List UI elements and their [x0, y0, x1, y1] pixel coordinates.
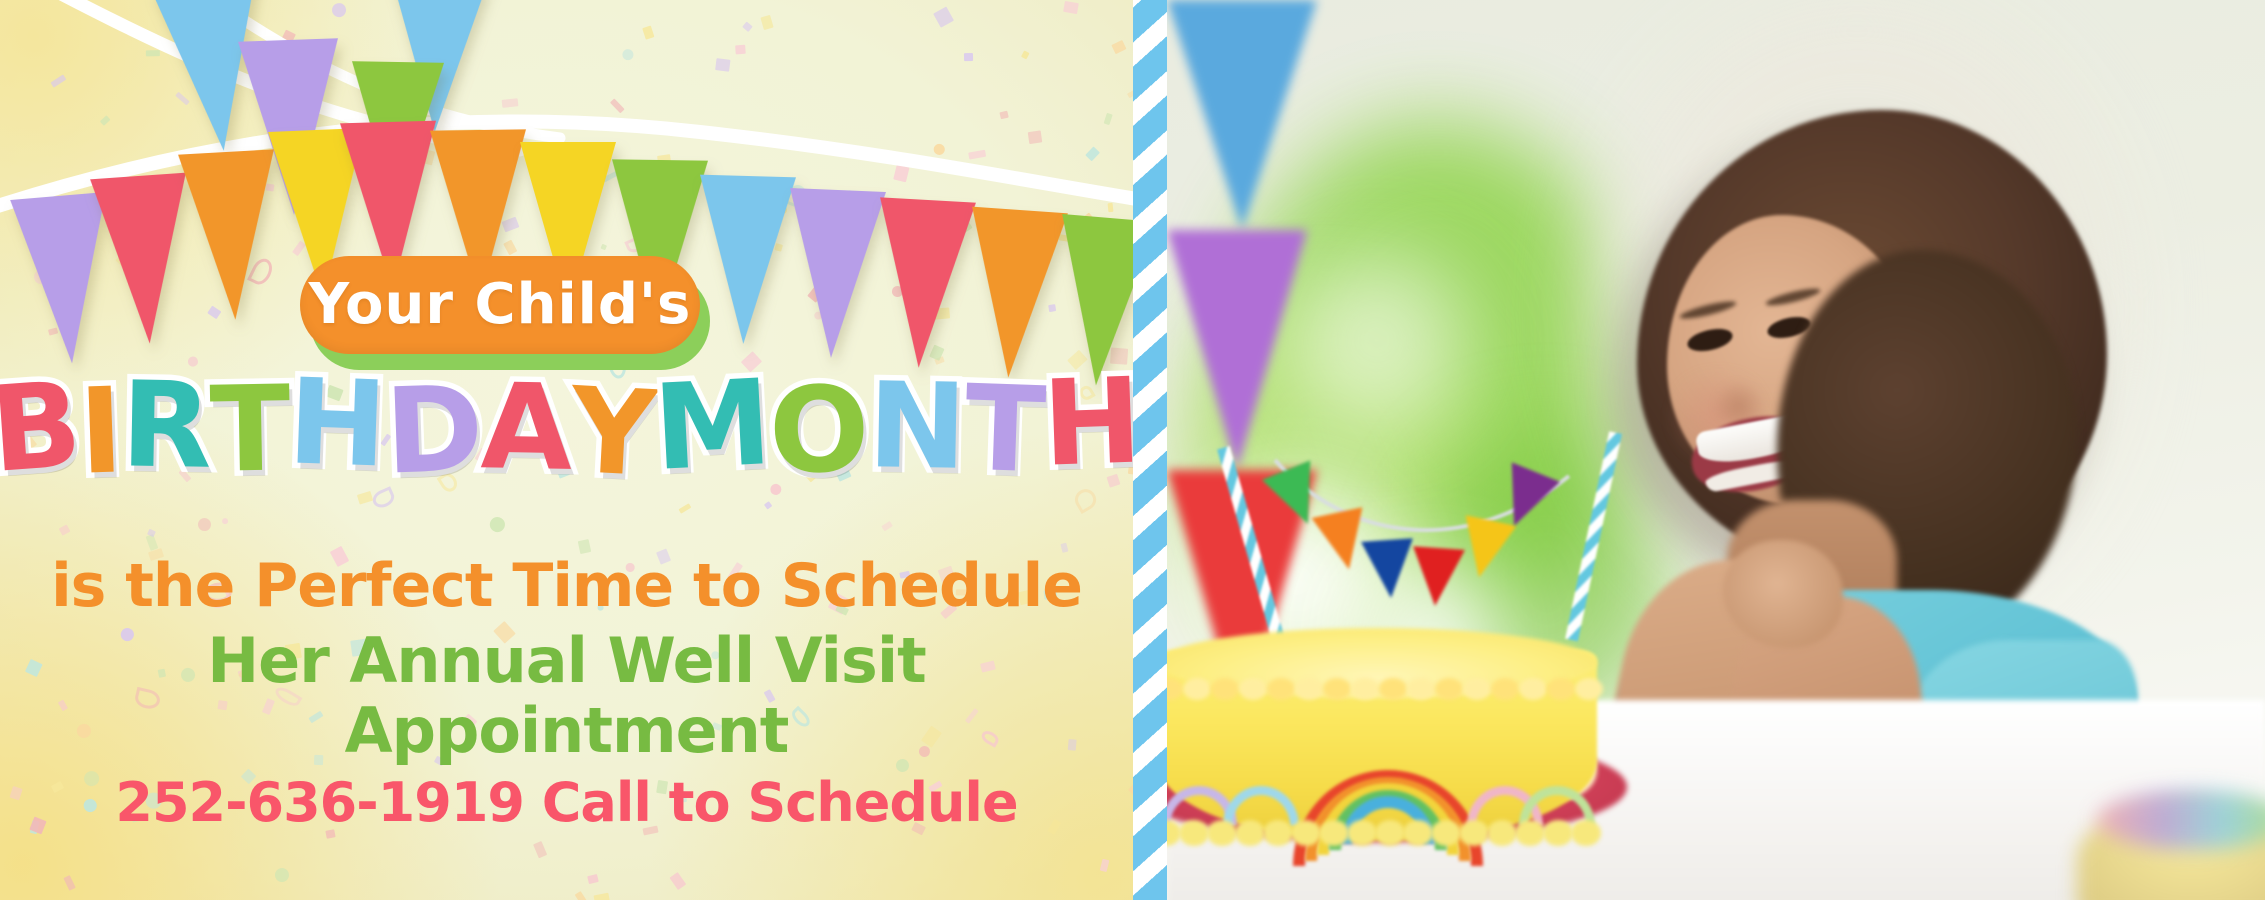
- confetti-piece: [231, 223, 247, 239]
- confetti-piece: [735, 45, 745, 54]
- confetti-piece: [1085, 146, 1100, 161]
- headline-letter: T: [209, 369, 292, 488]
- headline-letter: Y: [567, 371, 659, 493]
- headline-letter: H: [287, 362, 390, 483]
- confetti-piece: [1028, 130, 1042, 144]
- bunting-flags-top: [0, 0, 1133, 300]
- confetti-piece: [764, 501, 773, 510]
- confetti-piece: [999, 110, 1009, 119]
- confetti-piece: [533, 841, 547, 858]
- confetti-piece: [715, 58, 730, 71]
- confetti-piece: [282, 30, 296, 44]
- headline-letter: N: [867, 366, 968, 486]
- confetti-piece: [784, 183, 808, 210]
- confetti-piece: [1104, 113, 1113, 125]
- confetti-piece: [1096, 277, 1104, 284]
- confetti-piece: [1084, 213, 1097, 227]
- confetti-piece: [63, 875, 75, 890]
- confetti-piece: [575, 890, 587, 900]
- confetti-piece: [761, 14, 774, 29]
- phone-call-to-action[interactable]: 252-636-1919 Call to Schedule: [0, 776, 1133, 830]
- bunting-flag: [238, 38, 344, 216]
- confetti-piece: [146, 50, 160, 56]
- confetti-piece: [51, 74, 67, 88]
- confetti-piece: [624, 234, 647, 254]
- confetti-piece: [266, 183, 275, 191]
- headline-letter: M: [651, 363, 774, 487]
- headline-letter: I: [77, 371, 125, 490]
- confetti-piece: [207, 187, 224, 202]
- confetti-piece: [115, 216, 131, 230]
- confetti-piece: [603, 171, 619, 183]
- confetti-piece: [1107, 203, 1113, 213]
- confetti-piece: [932, 141, 947, 156]
- confetti-piece: [811, 255, 829, 270]
- confetti-piece: [642, 25, 654, 40]
- confetti-piece: [1048, 304, 1056, 312]
- bunting-flag: [349, 61, 444, 213]
- subtitle-line-1: is the Perfect Time to Schedule: [0, 556, 1133, 616]
- confetti-piece: [881, 521, 893, 532]
- confetti-piece: [609, 98, 624, 113]
- confetti-piece: [600, 243, 607, 250]
- confetti-piece: [99, 115, 110, 126]
- bunting-flag: [387, 0, 488, 134]
- bunting-flag: [695, 175, 796, 346]
- confetti-piece: [968, 150, 986, 159]
- confetti-piece: [208, 306, 222, 319]
- confetti-piece: [416, 148, 434, 165]
- confetti-piece: [294, 130, 311, 147]
- confetti-piece: [147, 529, 156, 537]
- confetti-piece: [292, 240, 306, 255]
- confetti-piece: [454, 7, 474, 24]
- confetti-piece: [59, 525, 71, 536]
- badge-pill: Your Child's: [300, 256, 700, 354]
- confetti-piece: [658, 155, 673, 171]
- confetti-piece: [136, 211, 160, 237]
- confetti-piece: [247, 255, 276, 288]
- confetti-piece: [1063, 1, 1078, 14]
- confetti-piece: [33, 269, 49, 285]
- headline-letter: O: [768, 370, 870, 490]
- confetti-piece: [1099, 858, 1109, 872]
- confetti-piece: [594, 893, 612, 900]
- confetti-piece: [742, 21, 753, 32]
- confetti-piece: [175, 92, 190, 106]
- confetti-piece: [715, 189, 730, 205]
- birthday-month-promo-banner: Your Child's BIRTHDAYMONTH is the Perfec…: [0, 0, 2265, 900]
- confetti-piece: [774, 243, 782, 252]
- confetti-piece: [115, 249, 134, 269]
- birthday-child-photo: [1167, 0, 2265, 900]
- confetti-piece: [678, 503, 691, 514]
- confetti-piece: [330, 0, 349, 19]
- confetti-piece: [670, 872, 687, 890]
- confetti-piece: [1022, 51, 1030, 60]
- confetti-piece: [504, 240, 518, 256]
- confetti-piece: [820, 260, 848, 286]
- diagonal-stripe-divider: [1133, 0, 1167, 900]
- page-title-birthday-month: BIRTHDAYMONTH: [0, 368, 1133, 486]
- confetti-piece: [1126, 90, 1133, 98]
- confetti-piece: [197, 517, 212, 532]
- headline-letter: D: [383, 369, 485, 490]
- headline-letter: A: [480, 367, 573, 487]
- subtitle-line-2: Her Annual Well Visit: [0, 630, 1133, 692]
- confetti-piece: [48, 327, 58, 335]
- confetti-piece: [273, 866, 290, 883]
- confetti-piece: [146, 534, 158, 551]
- confetti-piece: [829, 249, 837, 257]
- confetti-piece: [1059, 235, 1069, 242]
- left-content-panel: Your Child's BIRTHDAYMONTH is the Perfec…: [0, 0, 1133, 900]
- headline-letter: T: [962, 369, 1047, 490]
- bunting-flag: [871, 197, 976, 370]
- your-childs-badge: Your Child's: [300, 256, 700, 354]
- confetti-piece: [487, 514, 507, 534]
- confetti-piece: [893, 164, 909, 182]
- subtitle-line-3: Appointment: [0, 700, 1133, 762]
- confetti-piece: [807, 286, 824, 303]
- confetti-piece: [964, 52, 973, 60]
- confetti-piece: [932, 307, 950, 319]
- confetti-piece: [205, 214, 218, 224]
- confetti-piece: [287, 108, 304, 125]
- photo-bunting-flag: [1167, 0, 1317, 230]
- confetti-piece: [355, 75, 368, 84]
- photo-bunting-flag: [1167, 230, 1307, 470]
- cake-bunting-flag: [1361, 538, 1417, 599]
- bunting-flag: [90, 173, 197, 347]
- bunting-flag: [150, 0, 276, 157]
- confetti-piece: [812, 309, 824, 321]
- headline-letter: B: [0, 365, 85, 489]
- confetti-piece: [905, 290, 928, 309]
- cake-top-frosting: [1167, 628, 1597, 698]
- confetti-piece: [1112, 40, 1127, 55]
- badge-label: Your Child's: [309, 277, 692, 333]
- headline-letter: H: [1041, 361, 1133, 482]
- headline-letter: R: [120, 365, 213, 485]
- confetti-piece: [222, 518, 228, 524]
- bunting-flag: [10, 192, 120, 367]
- confetti-piece: [234, 190, 244, 200]
- confetti-piece: [891, 285, 903, 297]
- confetti-piece: [651, 166, 665, 178]
- confetti-piece: [588, 874, 600, 885]
- confetti-piece: [778, 205, 788, 215]
- confetti-piece: [135, 259, 148, 272]
- bunting-flag: [178, 149, 283, 322]
- bunting-ropes: [0, 0, 1133, 300]
- confetti-piece: [502, 217, 520, 233]
- confetti-piece: [838, 190, 853, 202]
- bunting-flag: [783, 188, 886, 360]
- confetti-piece: [620, 47, 636, 63]
- confetti-piece: [952, 216, 972, 236]
- confetti-piece: [502, 99, 519, 109]
- confetti-piece: [934, 6, 955, 27]
